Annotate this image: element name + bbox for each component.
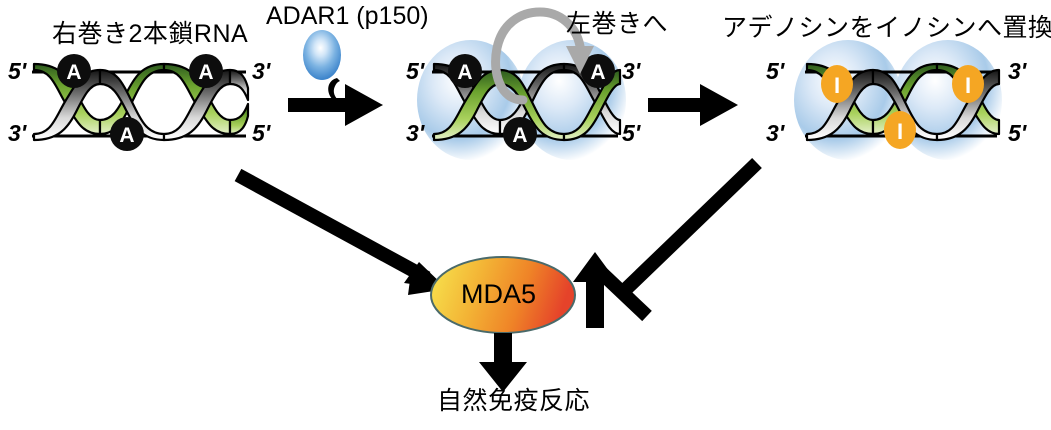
stage3-three-prime-right: 3': [1008, 60, 1026, 83]
stage2-five-prime-left: 5': [406, 60, 424, 83]
svg-text:A: A: [198, 61, 213, 84]
inosine-marker: I: [952, 65, 984, 103]
stage3-three-prime-left: 3': [766, 122, 784, 145]
svg-text:A: A: [512, 124, 527, 147]
stage1-three-prime-left: 3': [8, 122, 26, 145]
adenosine-marker: A: [110, 117, 144, 151]
adar1-protein-blob: [303, 30, 341, 80]
stage2-five-prime-right: 5': [622, 122, 640, 145]
stage3-title: アデノシンをイノシンへ置換: [722, 16, 1051, 41]
svg-text:I: I: [965, 73, 971, 98]
stage1-five-prime-right: 5': [252, 122, 270, 145]
adenosine-marker: A: [189, 54, 223, 88]
adenosine-marker: A: [57, 54, 91, 88]
mda5-label: MDA5: [461, 281, 536, 308]
stage3-five-prime-left: 5': [766, 60, 784, 83]
svg-text:I: I: [897, 119, 903, 144]
stage2-three-prime-left: 3': [406, 122, 424, 145]
svg-text:A: A: [119, 124, 134, 147]
inosine-marker: I: [821, 65, 853, 103]
stage1-five-prime-left: 5': [8, 60, 26, 83]
stage2-three-prime-right: 3': [622, 60, 640, 83]
inosine-marker: I: [884, 111, 916, 149]
stage2-title: 左巻きへ: [566, 12, 668, 37]
stage1-title: 右巻き2本鎖RNA: [52, 22, 248, 47]
svg-text:I: I: [834, 73, 840, 98]
stage1-three-prime-right: 3': [252, 60, 270, 83]
adar1-label: ADAR1 (p150): [266, 4, 429, 29]
inhibition-tbar-to-mda5: [590, 163, 757, 316]
diagram-svg: A A A: [0, 0, 1051, 430]
adenosine-marker: A: [448, 54, 482, 88]
stage1-dsrna-helix: A A A: [32, 54, 248, 151]
stage3-five-prime-right: 5': [1008, 122, 1026, 145]
adenosine-marker: A: [503, 117, 537, 151]
figure-canvas: A A A: [0, 0, 1051, 430]
svg-text:A: A: [457, 61, 472, 84]
stage2-to-stage3-arrow: [648, 84, 738, 126]
stage1-to-stage2-arrow: [288, 78, 383, 126]
mda5-to-outcome-arrow: [479, 333, 527, 392]
outcome-label: 自然免疫反応: [437, 389, 590, 414]
svg-text:A: A: [66, 61, 81, 84]
activation-arrow-to-mda5: [238, 175, 447, 295]
svg-text:A: A: [590, 61, 605, 84]
